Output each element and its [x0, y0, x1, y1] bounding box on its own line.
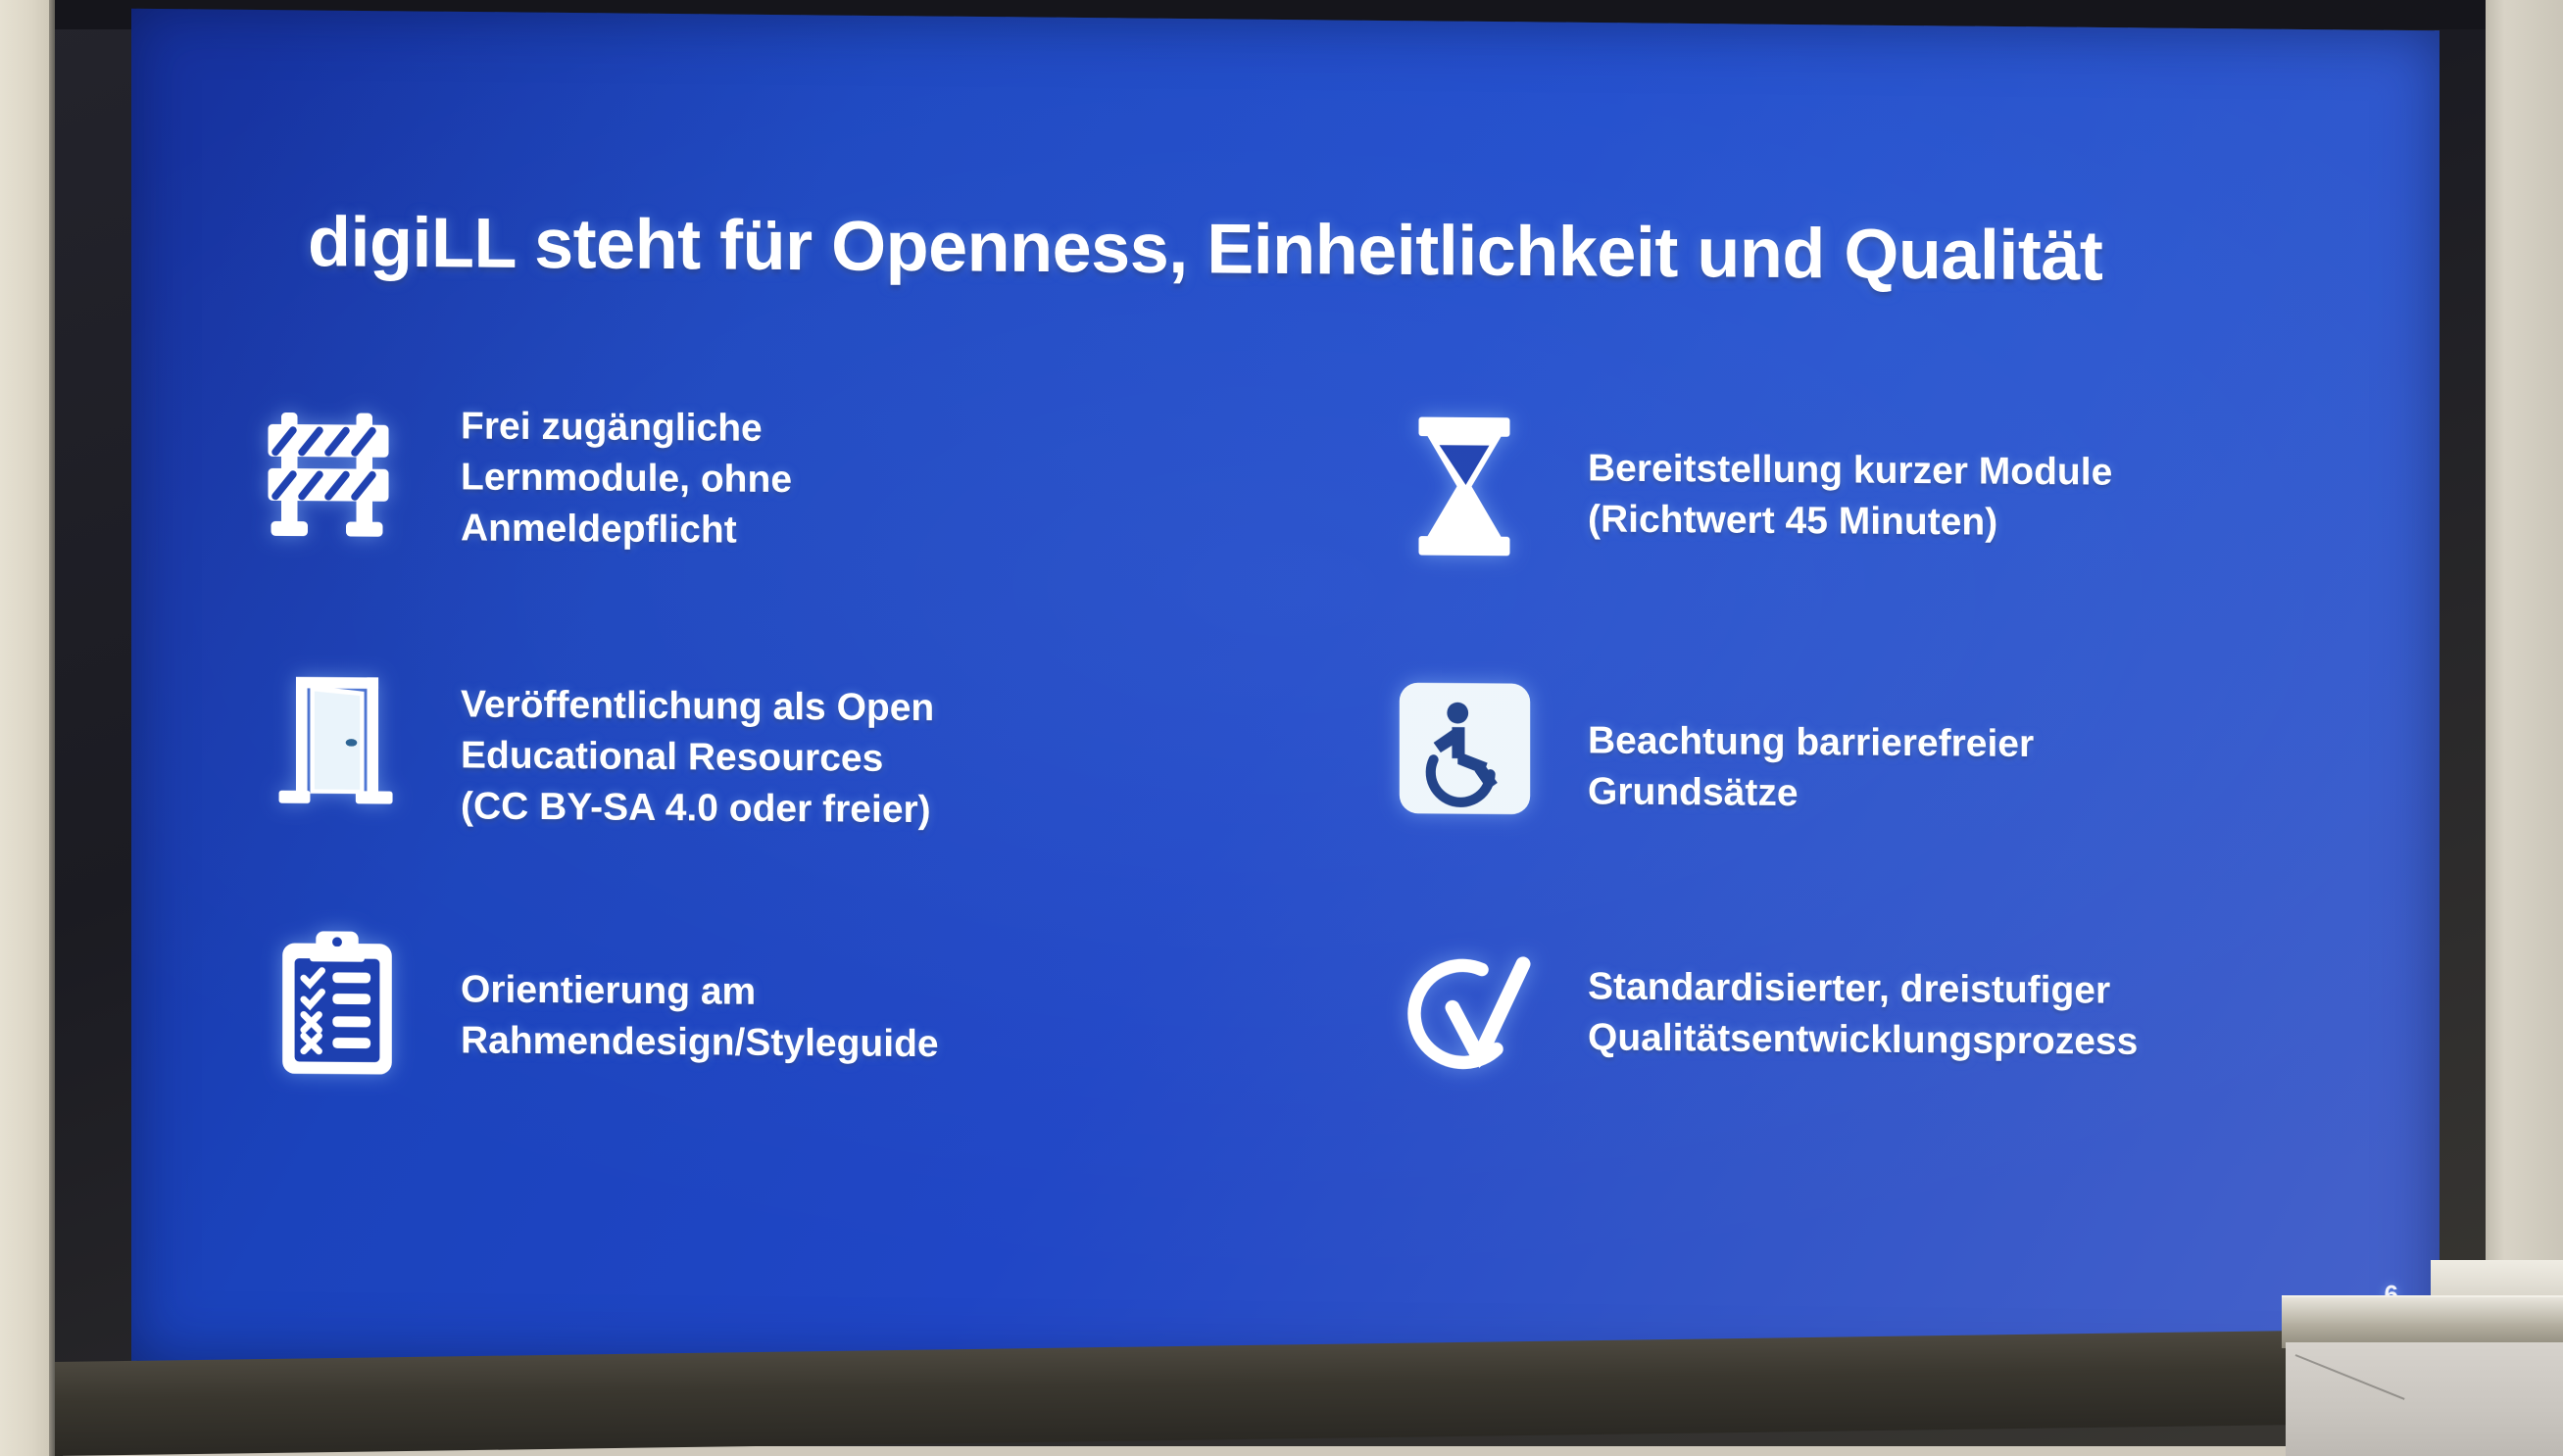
- feature-item-styleguide: Orientierung am Rahmendesign/Styleguide: [239, 918, 1298, 1181]
- clipboard-checklist-icon: [239, 918, 435, 1116]
- feature-grid: Frei zugängliche Lernmodule, ohne Anmeld…: [239, 394, 2366, 1189]
- wheelchair-accessibility-icon: [1366, 667, 1562, 865]
- room-photo-scene: digiLL steht für Openness, Einheitlichke…: [0, 0, 2563, 1456]
- feature-item-accessibility: Beachtung barrierefreier Grundsätze: [1307, 666, 2366, 934]
- right-wall: [2480, 0, 2563, 1456]
- feature-line: Beachtung barrierefreier: [1588, 715, 2034, 769]
- feature-text: Bereitstellung kurzer Module (Richtwert …: [1588, 404, 2112, 549]
- cycle-checkmark-icon: [1366, 927, 1562, 1125]
- feature-text: Orientierung am Rahmendesign/Styleguide: [461, 919, 939, 1070]
- flipchart-paper: [2286, 1342, 2563, 1456]
- feature-line: Standardisierter, dreistufiger: [1588, 961, 2138, 1016]
- feature-line: Lernmodule, ohne: [461, 452, 792, 506]
- feature-line: Anmeldepflicht: [461, 503, 792, 557]
- feature-line: Frei zugängliche: [461, 401, 792, 455]
- feature-line: Veröffentlichung als Open: [461, 679, 934, 734]
- feature-text: Frei zugängliche Lernmodule, ohne Anmeld…: [461, 395, 792, 556]
- feature-line: Bereitstellung kurzer Module: [1588, 443, 2112, 498]
- feature-line: Grundsätze: [1588, 766, 2034, 820]
- flipchart-tray: [2282, 1295, 2563, 1348]
- feature-item-oer-license: Veröffentlichung als Open Educational Re…: [239, 658, 1298, 926]
- feature-text: Veröffentlichung als Open Educational Re…: [461, 659, 934, 835]
- feature-line: Orientierung am: [461, 964, 939, 1019]
- projected-slide: digiLL steht für Openness, Einheitlichke…: [131, 9, 2440, 1383]
- feature-text: Beachtung barrierefreier Grundsätze: [1588, 668, 2034, 820]
- barrier-icon: [239, 394, 435, 592]
- feature-line: (Richtwert 45 Minuten): [1588, 494, 2112, 549]
- feature-line: Educational Resources: [461, 730, 934, 785]
- feature-line: Rahmendesign/Styleguide: [461, 1015, 939, 1070]
- feature-item-quality-process: Standardisierter, dreistufiger Qualitäts…: [1307, 926, 2366, 1189]
- flipchart: [2274, 1270, 2563, 1456]
- feature-item-open-access: Frei zugängliche Lernmodule, ohne Anmeld…: [239, 394, 1298, 666]
- feature-item-short-modules: Bereitstellung kurzer Module (Richtwert …: [1307, 402, 2366, 674]
- feature-line: Qualitätsentwicklungsprozess: [1588, 1012, 2138, 1067]
- feature-text: Standardisierter, dreistufiger Qualitäts…: [1588, 928, 2138, 1067]
- slide-title: digiLL steht für Openness, Einheitlichke…: [308, 206, 2317, 296]
- open-door-icon: [239, 658, 435, 856]
- hourglass-icon: [1366, 403, 1562, 601]
- feature-line: (CC BY-SA 4.0 oder freier): [461, 781, 934, 836]
